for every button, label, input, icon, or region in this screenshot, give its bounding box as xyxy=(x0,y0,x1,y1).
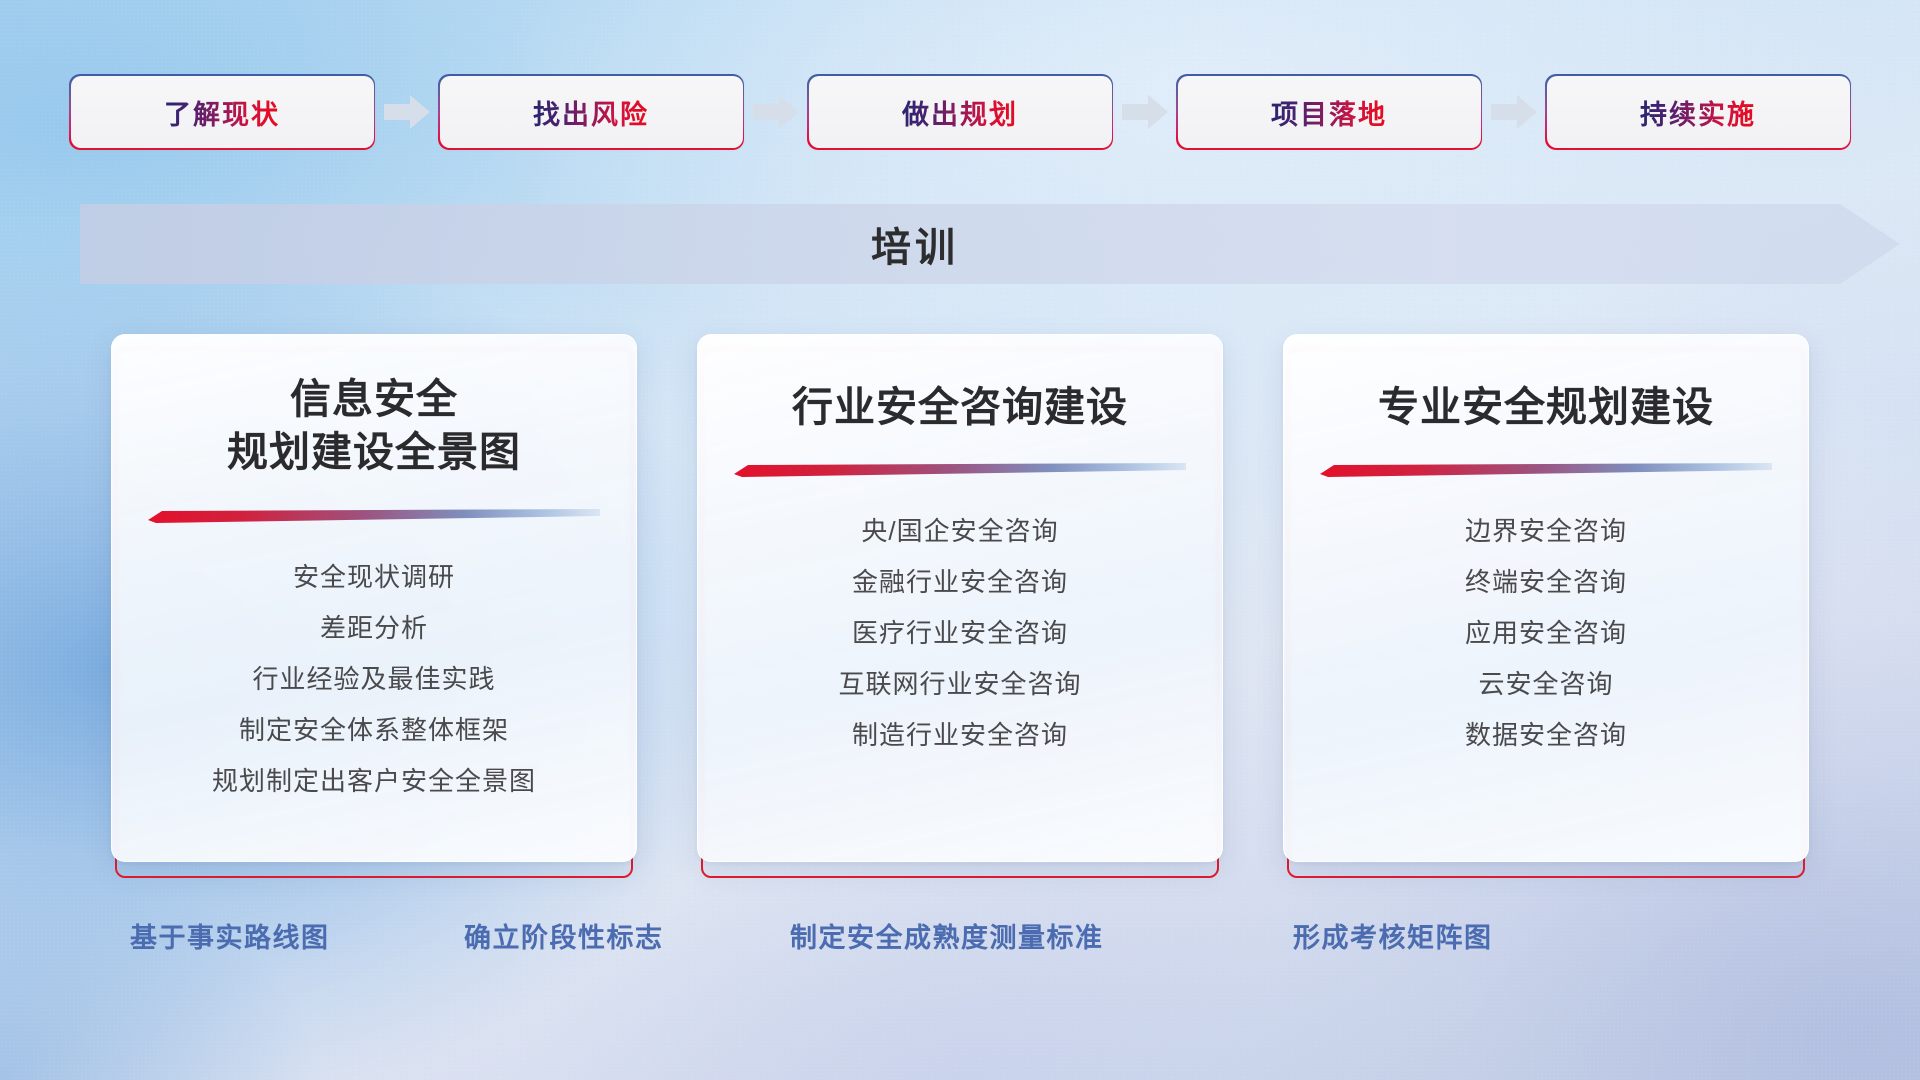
list-item: 边界安全咨询 xyxy=(1465,506,1627,557)
list-item: 制定安全体系整体框架 xyxy=(239,705,509,756)
chevron-right-arrow-icon-3 xyxy=(1112,76,1178,148)
bottom-label-row: 基于事实路线图 确立阶段性标志 制定安全成熟度测量标准 形成考核矩阵图 xyxy=(0,905,1920,965)
list-item: 终端安全咨询 xyxy=(1465,557,1627,608)
process-step-label: 找出风险 xyxy=(533,93,649,132)
list-item: 行业经验及最佳实践 xyxy=(252,654,495,705)
bottom-label-1: 基于事实路线图 xyxy=(130,905,330,965)
list-item: 央/国企安全咨询 xyxy=(861,506,1058,557)
card-item-list-1: 安全现状调研 差距分析 行业经验及最佳实践 制定安全体系整体框架 规划制定出客户… xyxy=(112,552,636,807)
card-wrapper-2: 行业安全咨询建设 xyxy=(697,334,1223,880)
list-item: 云安全咨询 xyxy=(1478,659,1613,710)
list-item: 数据安全咨询 xyxy=(1465,710,1627,761)
card-divider xyxy=(148,508,600,526)
banner-label: 培训 xyxy=(0,196,1830,292)
card-wrapper-1: 信息安全 规划建设全景图 xyxy=(111,334,637,880)
process-step-row: 了解现状 找出风险 做出规划 项目落地 持续实施 xyxy=(0,74,1920,150)
card-wrapper-3: 专业安全规划建设 xyxy=(1283,334,1809,880)
training-banner: 培训 xyxy=(0,196,1920,292)
process-step-4[interactable]: 项目落地 xyxy=(1178,76,1481,148)
info-card-1[interactable]: 信息安全 规划建设全景图 xyxy=(111,334,637,862)
process-step-label: 做出规划 xyxy=(902,93,1018,132)
list-item: 规划制定出客户安全全景图 xyxy=(212,756,536,807)
list-item: 金融行业安全咨询 xyxy=(852,557,1068,608)
info-card-3[interactable]: 专业安全规划建设 xyxy=(1283,334,1809,862)
list-item: 应用安全咨询 xyxy=(1465,608,1627,659)
list-item: 安全现状调研 xyxy=(293,552,455,603)
card-divider xyxy=(734,462,1186,480)
chevron-right-arrow-icon-1 xyxy=(374,76,440,148)
bottom-label-2: 确立阶段性标志 xyxy=(464,905,664,965)
card-divider xyxy=(1320,462,1772,480)
card-row: 信息安全 规划建设全景图 xyxy=(0,334,1920,880)
card-title: 信息安全 规划建设全景图 xyxy=(227,373,521,480)
bottom-label-3: 制定安全成熟度测量标准 xyxy=(790,905,1104,965)
chevron-right-arrow-icon-4 xyxy=(1481,76,1547,148)
card-title: 行业安全咨询建设 xyxy=(792,381,1128,434)
process-step-3[interactable]: 做出规划 xyxy=(809,76,1112,148)
list-item: 互联网行业安全咨询 xyxy=(838,659,1081,710)
process-step-label: 持续实施 xyxy=(1640,93,1756,132)
card-item-list-2: 央/国企安全咨询 金融行业安全咨询 医疗行业安全咨询 互联网行业安全咨询 制造行… xyxy=(698,506,1222,761)
process-step-label: 了解现状 xyxy=(164,93,280,132)
list-item: 医疗行业安全咨询 xyxy=(852,608,1068,659)
process-step-2[interactable]: 找出风险 xyxy=(440,76,743,148)
card-title: 专业安全规划建设 xyxy=(1378,381,1714,434)
list-item: 制造行业安全咨询 xyxy=(852,710,1068,761)
process-step-1[interactable]: 了解现状 xyxy=(71,76,374,148)
bottom-label-4: 形成考核矩阵图 xyxy=(1293,905,1493,965)
list-item: 差距分析 xyxy=(320,603,428,654)
info-card-2[interactable]: 行业安全咨询建设 xyxy=(697,334,1223,862)
process-step-label: 项目落地 xyxy=(1271,93,1387,132)
card-item-list-3: 边界安全咨询 终端安全咨询 应用安全咨询 云安全咨询 数据安全咨询 xyxy=(1284,506,1808,761)
chevron-right-arrow-icon-2 xyxy=(743,76,809,148)
process-step-5[interactable]: 持续实施 xyxy=(1547,76,1850,148)
